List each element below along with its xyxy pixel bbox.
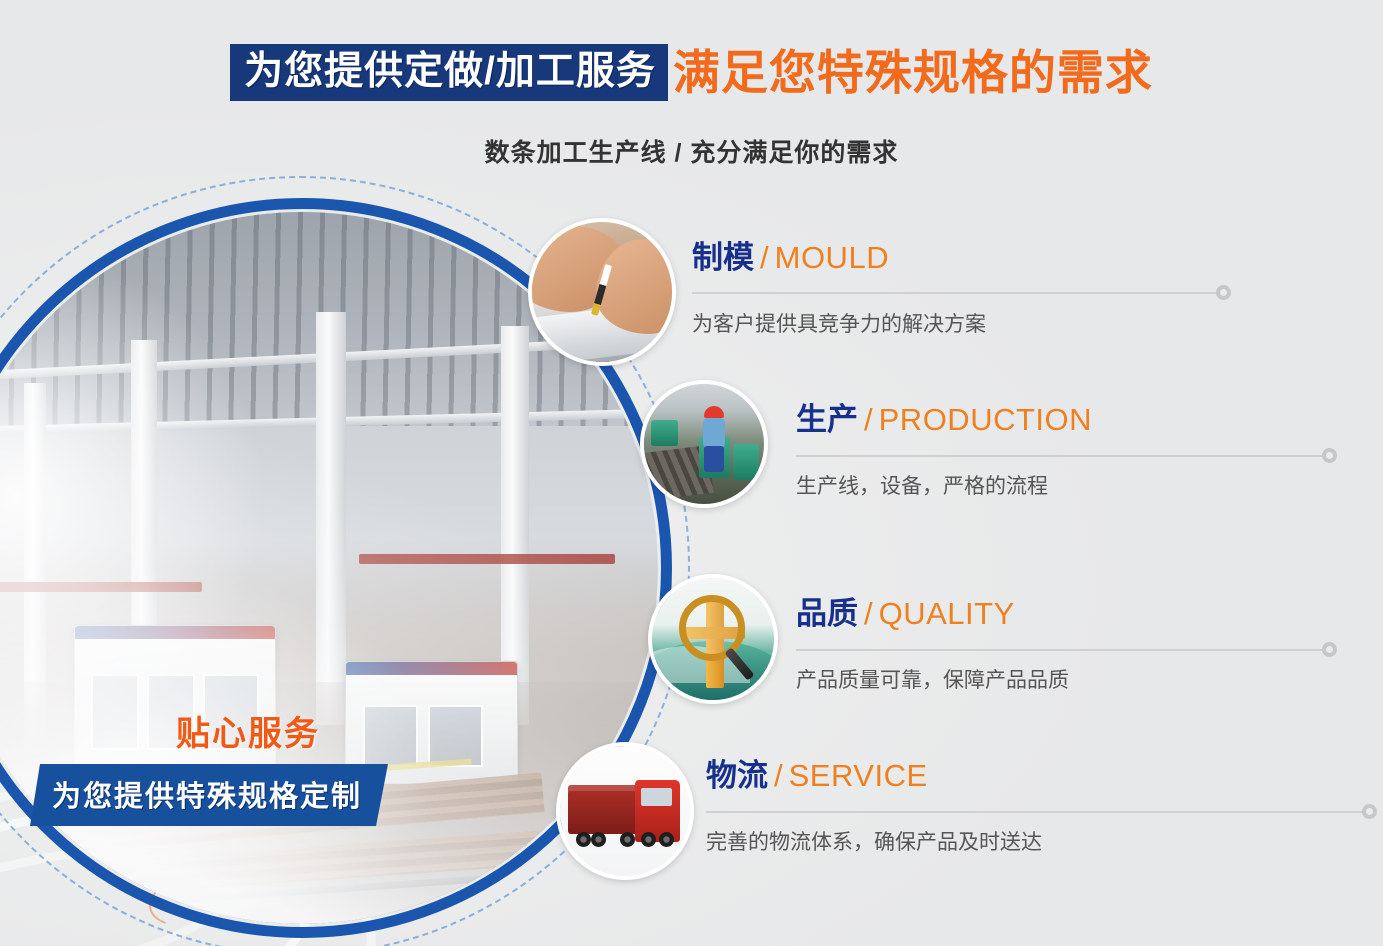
feature-title-en: QUALITY [879,596,1015,631]
feature-title: 制模/MOULD [692,242,889,273]
production-worker-icon [640,380,768,508]
feature-title-separator: / [760,240,769,275]
feature-title-en: MOULD [775,240,889,275]
feature-line-endpoint [1362,804,1377,819]
feature-description: 产品质量可靠，保障产品品质 [796,664,1069,694]
feature-divider-line [692,292,1222,294]
feature-title-cn: 物流 [706,758,768,793]
feature-title-cn: 品质 [796,596,858,631]
header-subtitle: 数条加工生产线 / 充分满足你的需求 [0,133,1383,169]
header: 为您提供定做/加工服务 满足您特殊规格的需求 数条加工生产线 / 充分满足你的需… [0,44,1383,169]
feature-description: 完善的物流体系，确保产品及时送达 [706,826,1042,856]
feature-description: 生产线，设备，严格的流程 [796,470,1048,500]
promo-banner: 为您提供定做/加工服务 满足您特殊规格的需求 数条加工生产线 / 充分满足你的需… [0,0,1383,946]
service-badge-banner: 为您提供特殊规格定制 [30,764,388,826]
service-badge-title: 贴心服务 [176,706,320,755]
feature-line-endpoint [1322,448,1337,463]
feature-title: 物流/SERVICE [706,760,928,791]
feature-divider-line [706,811,1370,813]
feature-title: 品质/QUALITY [796,598,1015,629]
feature-title: 生产/PRODUCTION [796,404,1092,435]
feature-description: 为客户提供具竞争力的解决方案 [692,308,986,338]
feature-divider-line [796,455,1330,457]
feature-title-cn: 制模 [692,240,754,275]
logistics-truck-icon [556,742,694,880]
feature-title-separator: / [864,402,873,437]
mould-drawing-icon [528,218,676,366]
header-highlight: 满足您特殊规格的需求 [673,49,1153,96]
feature-line-endpoint [1216,285,1231,300]
feature-title-en: PRODUCTION [879,402,1092,437]
feature-divider-line [796,649,1330,651]
feature-title-separator: / [864,596,873,631]
feature-title-separator: / [774,758,783,793]
header-badge: 为您提供定做/加工服务 [230,44,668,101]
quality-magnifier-icon [648,574,778,704]
feature-title-en: SERVICE [789,758,928,793]
feature-line-endpoint [1322,642,1337,657]
feature-title-cn: 生产 [796,402,858,437]
